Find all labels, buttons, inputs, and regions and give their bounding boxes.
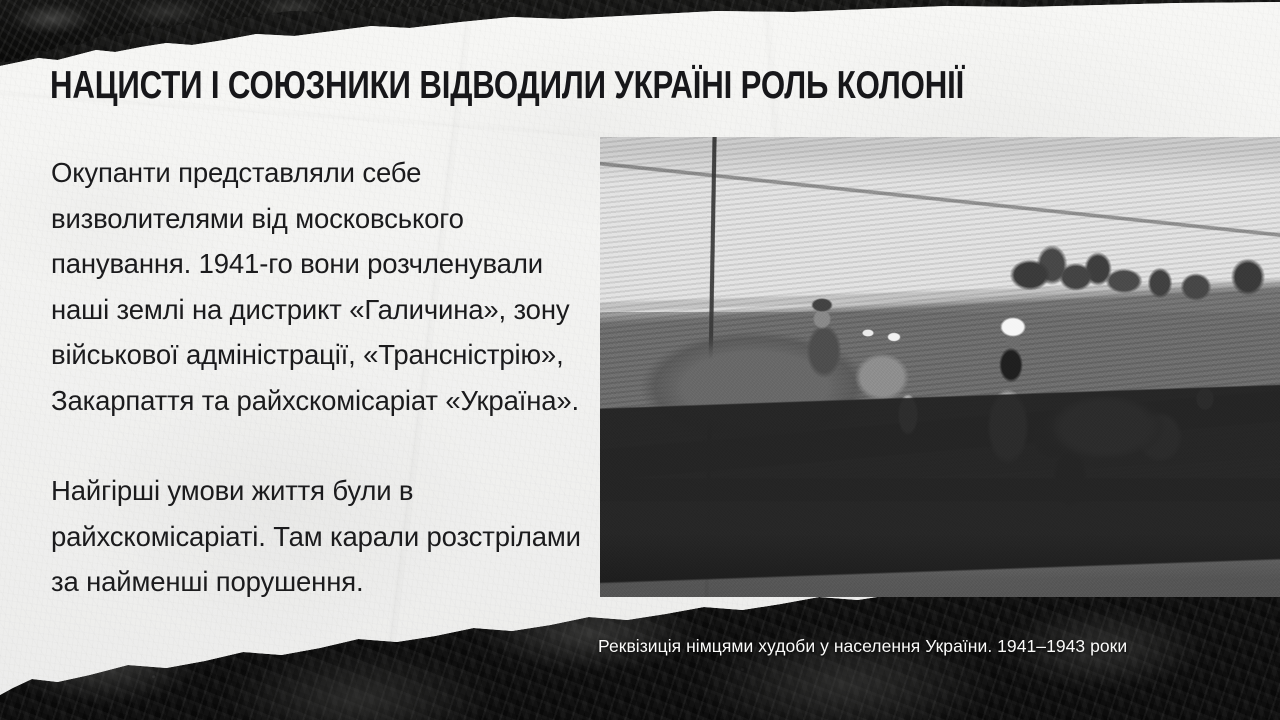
body-text-block: Окупанти представляли себе визволителями… xyxy=(51,150,581,605)
slide-root: НАЦИСТИ І СОЮЗНИКИ ВІДВОДИЛИ УКРАЇНІ РОЛ… xyxy=(0,0,1280,720)
slide-title: НАЦИСТИ І СОЮЗНИКИ ВІДВОДИЛИ УКРАЇНІ РОЛ… xyxy=(50,64,794,108)
photo-image xyxy=(600,137,1280,597)
paragraph-2: Найгірші умови життя були в райхскомісар… xyxy=(51,468,581,605)
paragraph-1: Окупанти представляли себе визволителями… xyxy=(51,150,581,423)
photo-caption: Реквізиція німцями худоби у населення Ук… xyxy=(598,636,1127,657)
historical-photograph xyxy=(600,137,1280,597)
